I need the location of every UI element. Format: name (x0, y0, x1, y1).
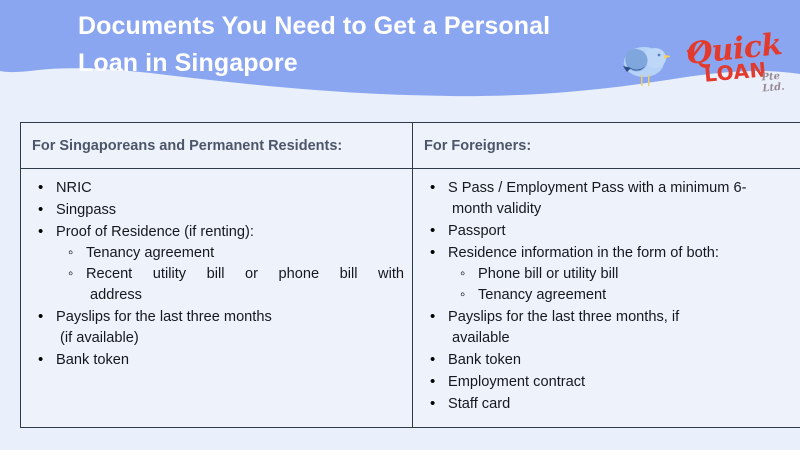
check-icon (684, 40, 706, 62)
list-item-text: Singpass (56, 202, 116, 218)
list-item-text: Bank token (56, 352, 129, 368)
list-item-text: Payslips for the last three months (56, 309, 272, 325)
list-item-text: Tenancy agreement (478, 287, 606, 303)
sub-list-item: Tenancy agreement (56, 243, 404, 264)
list-item-text: Proof of Residence (if renting): (56, 224, 254, 240)
list-item: S Pass / Employment Pass with a minimum … (421, 178, 796, 220)
logo-suffix-text: Pte Ltd. (761, 70, 797, 95)
bird-icon (614, 34, 674, 92)
list-item: Staff card (421, 394, 796, 415)
sub-list: Phone bill or utility billTenancy agreem… (448, 264, 796, 306)
list-item-text: Recent utility bill or phone bill with (86, 264, 404, 285)
list-item: Passport (421, 221, 796, 242)
column-header-foreigners: For Foreigners: (413, 123, 800, 169)
list-item-text: Passport (448, 223, 506, 239)
column-header-singaporeans: For Singaporeans and Permanent Residents… (21, 123, 413, 169)
list-item: Payslips for the last three months(if av… (29, 307, 404, 349)
documents-table: For Singaporeans and Permanent Residents… (20, 122, 800, 428)
list-item: Proof of Residence (if renting):Tenancy … (29, 222, 404, 306)
list-item-text: Residence information in the form of bot… (448, 245, 719, 261)
sub-list-item: Phone bill or utility bill (448, 264, 796, 285)
list-item: Singpass (29, 200, 404, 221)
list-item: Payslips for the last three months, ifav… (421, 307, 796, 349)
sub-list-item: Tenancy agreement (448, 285, 796, 306)
list-item-text: Employment contract (448, 374, 585, 390)
cell-singaporeans: NRICSingpassProof of Residence (if renti… (21, 169, 413, 428)
foreigners-document-list: S Pass / Employment Pass with a minimum … (421, 178, 796, 415)
cell-foreigners: S Pass / Employment Pass with a minimum … (413, 169, 800, 428)
list-item: Residence information in the form of bot… (421, 243, 796, 306)
list-item: Bank token (421, 350, 796, 371)
page-title: Documents You Need to Get a Personal Loa… (78, 8, 598, 82)
list-item-text: Staff card (448, 396, 510, 412)
list-item-text-continued: address (86, 285, 404, 306)
list-item: NRIC (29, 178, 404, 199)
sub-list: Tenancy agreementRecent utility bill or … (56, 243, 404, 306)
list-item-text: Phone bill or utility bill (478, 266, 618, 282)
table-header-row: For Singaporeans and Permanent Residents… (21, 123, 800, 169)
list-item-text-continued: (if available) (56, 328, 404, 349)
list-item-text: Payslips for the last three months, if (448, 309, 679, 325)
list-item-text: Bank token (448, 352, 521, 368)
sub-list-item: Recent utility bill or phone bill withad… (56, 264, 404, 306)
list-item-text: S Pass / Employment Pass with a minimum … (448, 180, 746, 196)
singaporeans-document-list: NRICSingpassProof of Residence (if renti… (29, 178, 404, 371)
list-item-text: Tenancy agreement (86, 245, 214, 261)
list-item: Employment contract (421, 372, 796, 393)
list-item-text-continued: month validity (448, 199, 796, 220)
brand-logo: Quick LOAN Pte Ltd. (614, 30, 796, 98)
table-body-row: NRICSingpassProof of Residence (if renti… (21, 169, 800, 428)
logo-wordmark: Quick LOAN Pte Ltd. (676, 30, 796, 92)
list-item: Bank token (29, 350, 404, 371)
list-item-text-continued: available (448, 328, 796, 349)
list-item-text: NRIC (56, 180, 92, 196)
logo-loan-text: LOAN (703, 57, 768, 86)
